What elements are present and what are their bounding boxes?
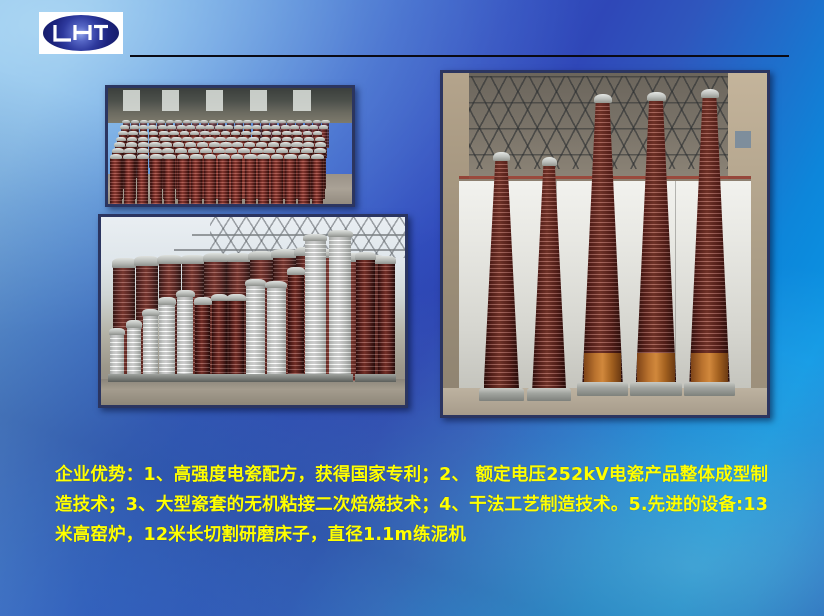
insulator-metal-cap [271,125,280,129]
insulator-base [158,374,177,382]
insulator-metal-cap [226,120,234,124]
insulator-base [227,374,246,382]
slide-canvas: 企业优势：1、高强度电瓷配方，获得国家专利；2、 额定电压252kV电瓷产品整体… [0,0,824,616]
insulator-metal-cap [162,148,174,153]
insulator-metal-cap [169,131,179,135]
insulator-metal-cap [300,125,309,129]
logo-lettermark-icon [39,12,123,54]
insulator-metal-cap [594,94,613,103]
insulator-metal-cap [262,131,272,135]
insulator-metal-cap [244,154,257,159]
insulator-metal-cap [130,125,139,129]
insulator-metal-cap [313,120,321,124]
insulator-metal-cap [321,120,329,124]
insulator-column [191,158,202,204]
insulator-metal-cap [217,154,230,159]
insulator-metal-cap [134,256,159,265]
insulator-metal-cap [301,148,313,153]
insulator-unit-brown [356,258,374,380]
insulator-column [151,158,162,204]
insulator-metal-cap [237,137,247,142]
insulator-metal-cap [295,120,303,124]
insulator-metal-cap [149,131,159,135]
insulator-metal-cap [122,120,130,124]
photo-stacked-insulators [105,85,355,207]
header-divider [130,55,789,57]
insulator-metal-cap [188,148,200,153]
insulator-metal-cap [313,131,323,135]
insulator-metal-cap [215,137,225,142]
insulator-base [175,374,195,382]
insulator-metal-cap [140,120,148,124]
insulator-metal-cap [158,297,176,305]
insulator-metal-cap [215,125,224,129]
insulator-metal-cap [252,120,260,124]
photo-mixed-insulators-image [101,217,405,405]
insulator-metal-cap [205,125,214,129]
insulator-metal-cap [118,131,128,135]
insulator-shed-body [582,102,623,384]
insulator-metal-cap [157,255,183,264]
insulator-metal-cap [200,148,212,153]
insulator-metal-cap [271,137,281,142]
insulator-metal-cap [109,328,125,336]
insulator-metal-cap [262,125,271,129]
insulator-metal-cap [224,125,233,129]
slide-caption: 企业优势：1、高强度电瓷配方，获得国家专利；2、 额定电压252kV电瓷产品整体… [55,460,785,550]
insulator-unit-white [127,326,141,381]
insulator-column [204,158,215,204]
insulator-metal-cap [200,120,208,124]
insulator-metal-cap [110,154,123,159]
insulator-shed-body [532,165,566,391]
photo-tall-insulators-image [443,73,767,415]
insulator-metal-cap [126,320,142,328]
insulator-metal-cap [180,255,206,264]
insulator-metal-cap [150,154,163,159]
insulator-metal-cap [251,148,263,153]
insulator-metal-cap [148,120,156,124]
insulator-metal-cap [217,120,225,124]
insulator-metal-cap [142,309,159,317]
insulator-metal-cap [182,137,192,142]
insulator-metal-cap [204,154,217,159]
insulator-metal-cap [158,125,167,129]
insulator-shed-body [689,97,730,384]
insulator-metal-cap [265,281,286,289]
insulator-metal-cap [238,148,250,153]
insulator-metal-cap [124,148,136,153]
insulator-metal-cap [226,137,236,142]
insulator-metal-cap [177,125,186,129]
insulator-unit-white [267,287,286,381]
insulator-metal-cap [261,120,269,124]
insulator-metal-cap [278,120,286,124]
insulator-metal-cap [328,230,353,238]
insulator-metal-cap [194,297,212,305]
insulator-metal-cap [138,137,148,142]
insulator-metal-cap [112,148,124,153]
insulator-metal-cap [180,131,190,135]
insulator-metal-cap [281,125,290,129]
insulator-metal-cap [149,142,160,147]
insulator-metal-cap [311,154,324,159]
insulator-metal-cap [171,137,181,142]
insulator-metal-cap [241,131,251,135]
insulator-metal-cap [309,125,318,129]
insulator-metal-cap [127,137,137,142]
insulator-metal-cap [282,137,292,142]
insulator-metal-cap [221,131,231,135]
insulator-metal-cap [248,137,258,142]
insulator-metal-cap [137,154,150,159]
insulator-unit-brown [378,262,395,380]
insulator-metal-cap [173,142,184,147]
insulator-column [110,158,121,204]
insulator-column [124,158,135,204]
insulator-column [298,158,309,204]
insulator-metal-cap [196,125,205,129]
insulator-unit-brown [195,303,210,380]
insulator-metal-cap [251,131,261,135]
insulator-unit-white [246,285,264,381]
insulator-metal-cap [150,148,162,153]
insulator-unit-brown [229,300,245,381]
insulator-metal-cap [315,137,325,142]
insulator-base [355,374,377,382]
insulator-metal-cap [271,154,284,159]
insulator-metal-cap [235,120,243,124]
insulator-metal-cap [148,125,157,129]
insulator-metal-cap [276,148,288,153]
insulator-column [178,158,189,204]
insulator-metal-cap [185,142,196,147]
insulator-metal-cap [245,279,266,287]
insulator-metal-cap [260,137,270,142]
insulator-metal-cap [232,142,243,147]
insulator-metal-cap [128,131,138,135]
insulator-metal-cap [123,154,136,159]
insulator-metal-cap [209,142,220,147]
insulator-metal-cap [177,154,190,159]
photo-mixed-insulators [98,214,408,408]
insulator-metal-cap [157,120,165,124]
insulator-metal-cap [304,120,312,124]
insulator-metal-cap [256,142,267,147]
insulator-base [265,374,287,382]
insulator-metal-cap [112,258,137,267]
insulator-metal-cap [126,142,137,147]
insulator-base [244,374,266,382]
insulator-metal-cap [149,137,159,142]
insulator-metal-cap [116,137,126,142]
insulator-units [101,217,405,405]
insulator-metal-cap [280,142,291,147]
insulator-base [125,374,143,382]
insulator-metal-cap [114,142,125,147]
insulator-metal-cap [200,131,210,135]
insulator-metal-cap [159,131,169,135]
insulator-metal-cap [244,142,255,147]
tapered-insulator [532,165,566,391]
insulator-unit-white [305,240,326,381]
insulator-metal-cap [355,252,376,260]
tapered-insulator [484,160,520,391]
insulator-metal-cap [197,142,208,147]
insulator-mounting-flange [527,388,571,402]
insulator-metal-cap [227,294,245,302]
insulator-unit-white [329,236,351,381]
insulator-metal-cap [176,290,195,298]
insulator-metal-cap [298,154,311,159]
insulator-metal-cap [213,148,225,153]
insulator-column [245,158,256,204]
insulator-metal-cap [292,131,302,135]
insulator-metal-cap [303,131,313,135]
insulator-metal-cap [225,148,237,153]
insulator-metal-cap [161,142,172,147]
insulator-column [258,158,269,204]
insulator-metal-cap [257,154,270,159]
insulator-metal-cap [139,125,148,129]
insulator-orange-skirt [637,353,674,384]
insulator-column [271,158,282,204]
insulator-orange-skirt [584,353,621,384]
insulator-rows [108,88,352,204]
insulator-metal-cap [139,131,149,135]
insulator-metal-cap [211,294,229,302]
insulator-metal-cap [138,142,149,147]
photo-stacked-insulators-image [108,88,352,204]
insulator-base [327,374,353,382]
insulator-metal-cap [210,131,220,135]
insulator-metal-cap [263,148,275,153]
tapered-insulator [582,102,623,384]
insulator-column [218,158,229,204]
insulator-metal-cap [163,154,176,159]
insulator-metal-cap [174,120,182,124]
insulator-metal-cap [315,142,326,147]
insulator-metal-cap [186,125,195,129]
insulator-unit-white [159,303,175,380]
insulator-column [285,158,296,204]
insulator-unit-white [177,296,193,381]
insulator-metal-cap [191,120,199,124]
insulator-metal-cap [647,92,666,101]
company-logo [39,12,123,54]
insulator-column [312,158,323,204]
insulator-metal-cap [304,137,314,142]
insulator-metal-cap [231,131,241,135]
insulator-metal-cap [314,148,326,153]
insulator-column [137,158,148,204]
insulator-shed-body [636,100,677,384]
insulator-metal-cap [166,120,174,124]
insulator-base [376,374,397,382]
insulator-metal-cap [303,234,327,242]
insulator-metal-cap [120,125,129,129]
insulator-orange-skirt [691,353,728,384]
insulator-metal-cap [268,142,279,147]
insulator-unit-brown [212,300,227,381]
insulator-metal-cap [160,137,170,142]
insulator-metal-cap [319,125,328,129]
insulator-metal-cap [131,120,139,124]
insulator-shed-body [484,160,520,391]
insulator-metal-cap [193,137,203,142]
insulator-metal-cap [293,137,303,142]
insulator-metal-cap [287,267,305,275]
insulator-metal-cap [701,89,720,98]
insulator-metal-cap [243,120,251,124]
insulator-metal-cap [243,125,252,129]
insulator-metal-cap [190,154,203,159]
tapered-insulator [689,97,730,384]
insulator-base [108,374,126,382]
insulator-metal-cap [542,157,558,166]
insulator-metal-cap [290,125,299,129]
insulator-metal-cap [209,120,217,124]
insulator-metal-cap [137,148,149,153]
insulator-unit-brown [288,273,304,380]
photo-tall-insulators [440,70,770,418]
insulator-metal-cap [234,125,243,129]
insulator-metal-cap [272,131,282,135]
insulator-mounting-flange [630,382,682,396]
insulator-metal-cap [287,120,295,124]
tapered-insulator-columns [443,73,767,415]
insulator-metal-cap [175,148,187,153]
insulator-metal-cap [376,256,395,264]
insulator-column [164,158,175,204]
insulator-metal-cap [291,142,302,147]
insulator-metal-cap [269,120,277,124]
insulator-metal-cap [190,131,200,135]
insulator-metal-cap [252,125,261,129]
tapered-insulator [636,100,677,384]
insulator-metal-cap [204,137,214,142]
insulator-metal-cap [183,120,191,124]
insulator-metal-cap [231,154,244,159]
insulator-base [303,374,328,382]
insulator-mounting-flange [684,382,736,396]
insulator-metal-cap [289,148,301,153]
insulator-mounting-flange [577,382,629,396]
insulator-metal-cap [493,152,509,161]
insulator-column [231,158,242,204]
insulator-metal-cap [282,131,292,135]
insulator-metal-cap [284,154,297,159]
insulator-mounting-flange [479,388,525,402]
insulator-metal-cap [303,142,314,147]
insulator-metal-cap [167,125,176,129]
insulator-metal-cap [220,142,231,147]
insulator-unit-white [143,315,158,381]
